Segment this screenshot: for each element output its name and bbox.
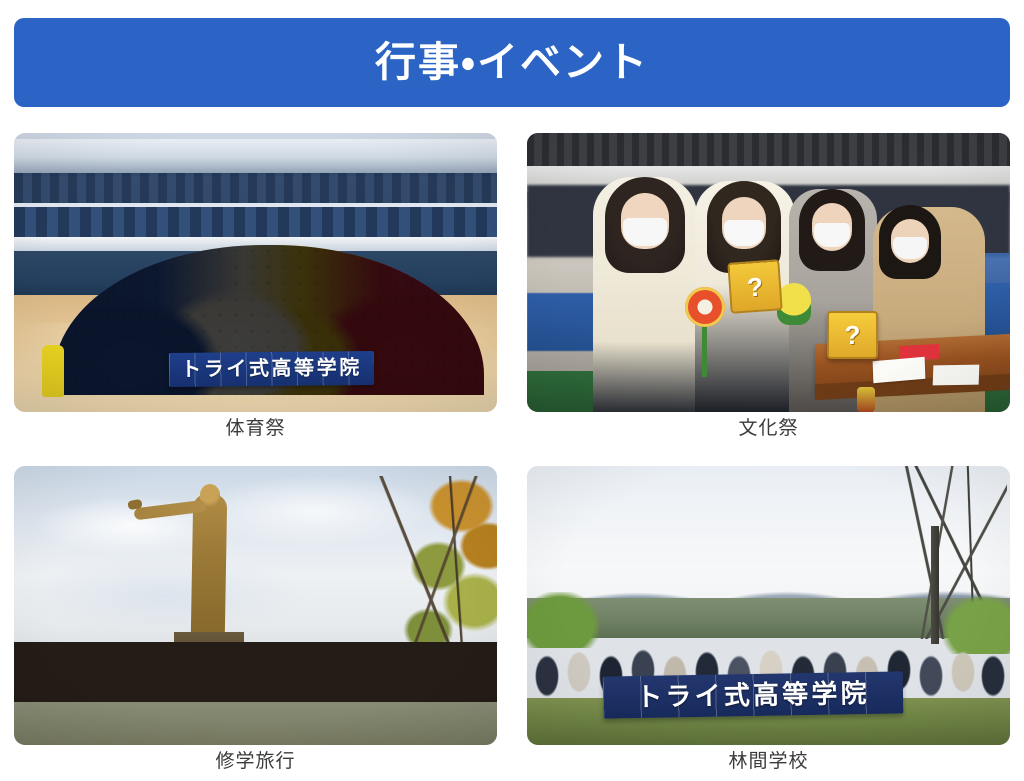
student-second-mask bbox=[724, 220, 764, 246]
photo-school-trip[interactable]: BOYS BE AMBITIOUS bbox=[14, 466, 497, 745]
student-fourth-mask bbox=[893, 237, 927, 259]
question-block-prop-held: ? bbox=[727, 259, 782, 314]
tree-branches bbox=[344, 476, 497, 666]
arena-seating-row-upper bbox=[14, 173, 497, 207]
school-banner-forest: トライ式高等学院 bbox=[603, 671, 904, 718]
photo-sports-festival[interactable]: トライ式高等学院 bbox=[14, 133, 497, 412]
events-gallery-page: 行事・イベント トライ式高等学院 体育祭 bbox=[0, 0, 1024, 781]
student-front-left-mask bbox=[623, 218, 667, 246]
caption-culture-festival: 文化祭 bbox=[527, 416, 1010, 441]
gallery-item-school-trip[interactable]: BOYS BE AMBITIOUS 修学旅行 bbox=[14, 466, 497, 766]
clark-statue-body bbox=[191, 494, 228, 640]
question-block-prop-on-table: ? bbox=[827, 311, 878, 359]
gallery-item-culture-festival[interactable]: ? ? 文化祭 bbox=[527, 133, 1010, 433]
arena-upper-deck bbox=[14, 139, 497, 176]
hall-ceiling-structure bbox=[527, 133, 1010, 169]
student-in-yellow bbox=[42, 345, 64, 397]
white-paper-on-table-b bbox=[933, 365, 980, 386]
question-block-label-held: ? bbox=[746, 273, 764, 300]
section-title: 行事・イベント bbox=[375, 42, 649, 83]
school-banner-sports: トライ式高等学院 bbox=[169, 351, 374, 387]
cloud-lower bbox=[14, 556, 314, 636]
student-third-mask bbox=[814, 223, 850, 247]
events-gallery-grid: トライ式高等学院 体育祭 bbox=[14, 133, 1010, 773]
gallery-item-sports-festival[interactable]: トライ式高等学院 体育祭 bbox=[14, 133, 497, 433]
school-banner-text-forest: トライ式高等学院 bbox=[636, 680, 870, 710]
caption-school-trip: 修学旅行 bbox=[14, 749, 497, 774]
section-header-banner: 行事・イベント bbox=[14, 18, 1010, 107]
mario-figurine bbox=[857, 387, 875, 412]
fire-flower-prop-icon bbox=[685, 287, 725, 327]
fire-flower-stem bbox=[702, 323, 707, 377]
caption-sports-festival: 体育祭 bbox=[14, 416, 497, 441]
photo-culture-festival[interactable]: ? ? bbox=[527, 133, 1010, 412]
gallery-item-forest-school[interactable]: トライ式高等学院 林間学校 bbox=[527, 466, 1010, 766]
photo-forest-school[interactable]: トライ式高等学院 bbox=[527, 466, 1010, 745]
white-paper-on-table-a bbox=[873, 357, 926, 383]
question-block-label-table: ? bbox=[845, 322, 861, 348]
caption-forest-school: 林間学校 bbox=[527, 749, 1010, 774]
students-group-heads bbox=[14, 642, 497, 702]
school-banner-text: トライ式高等学院 bbox=[181, 358, 362, 380]
